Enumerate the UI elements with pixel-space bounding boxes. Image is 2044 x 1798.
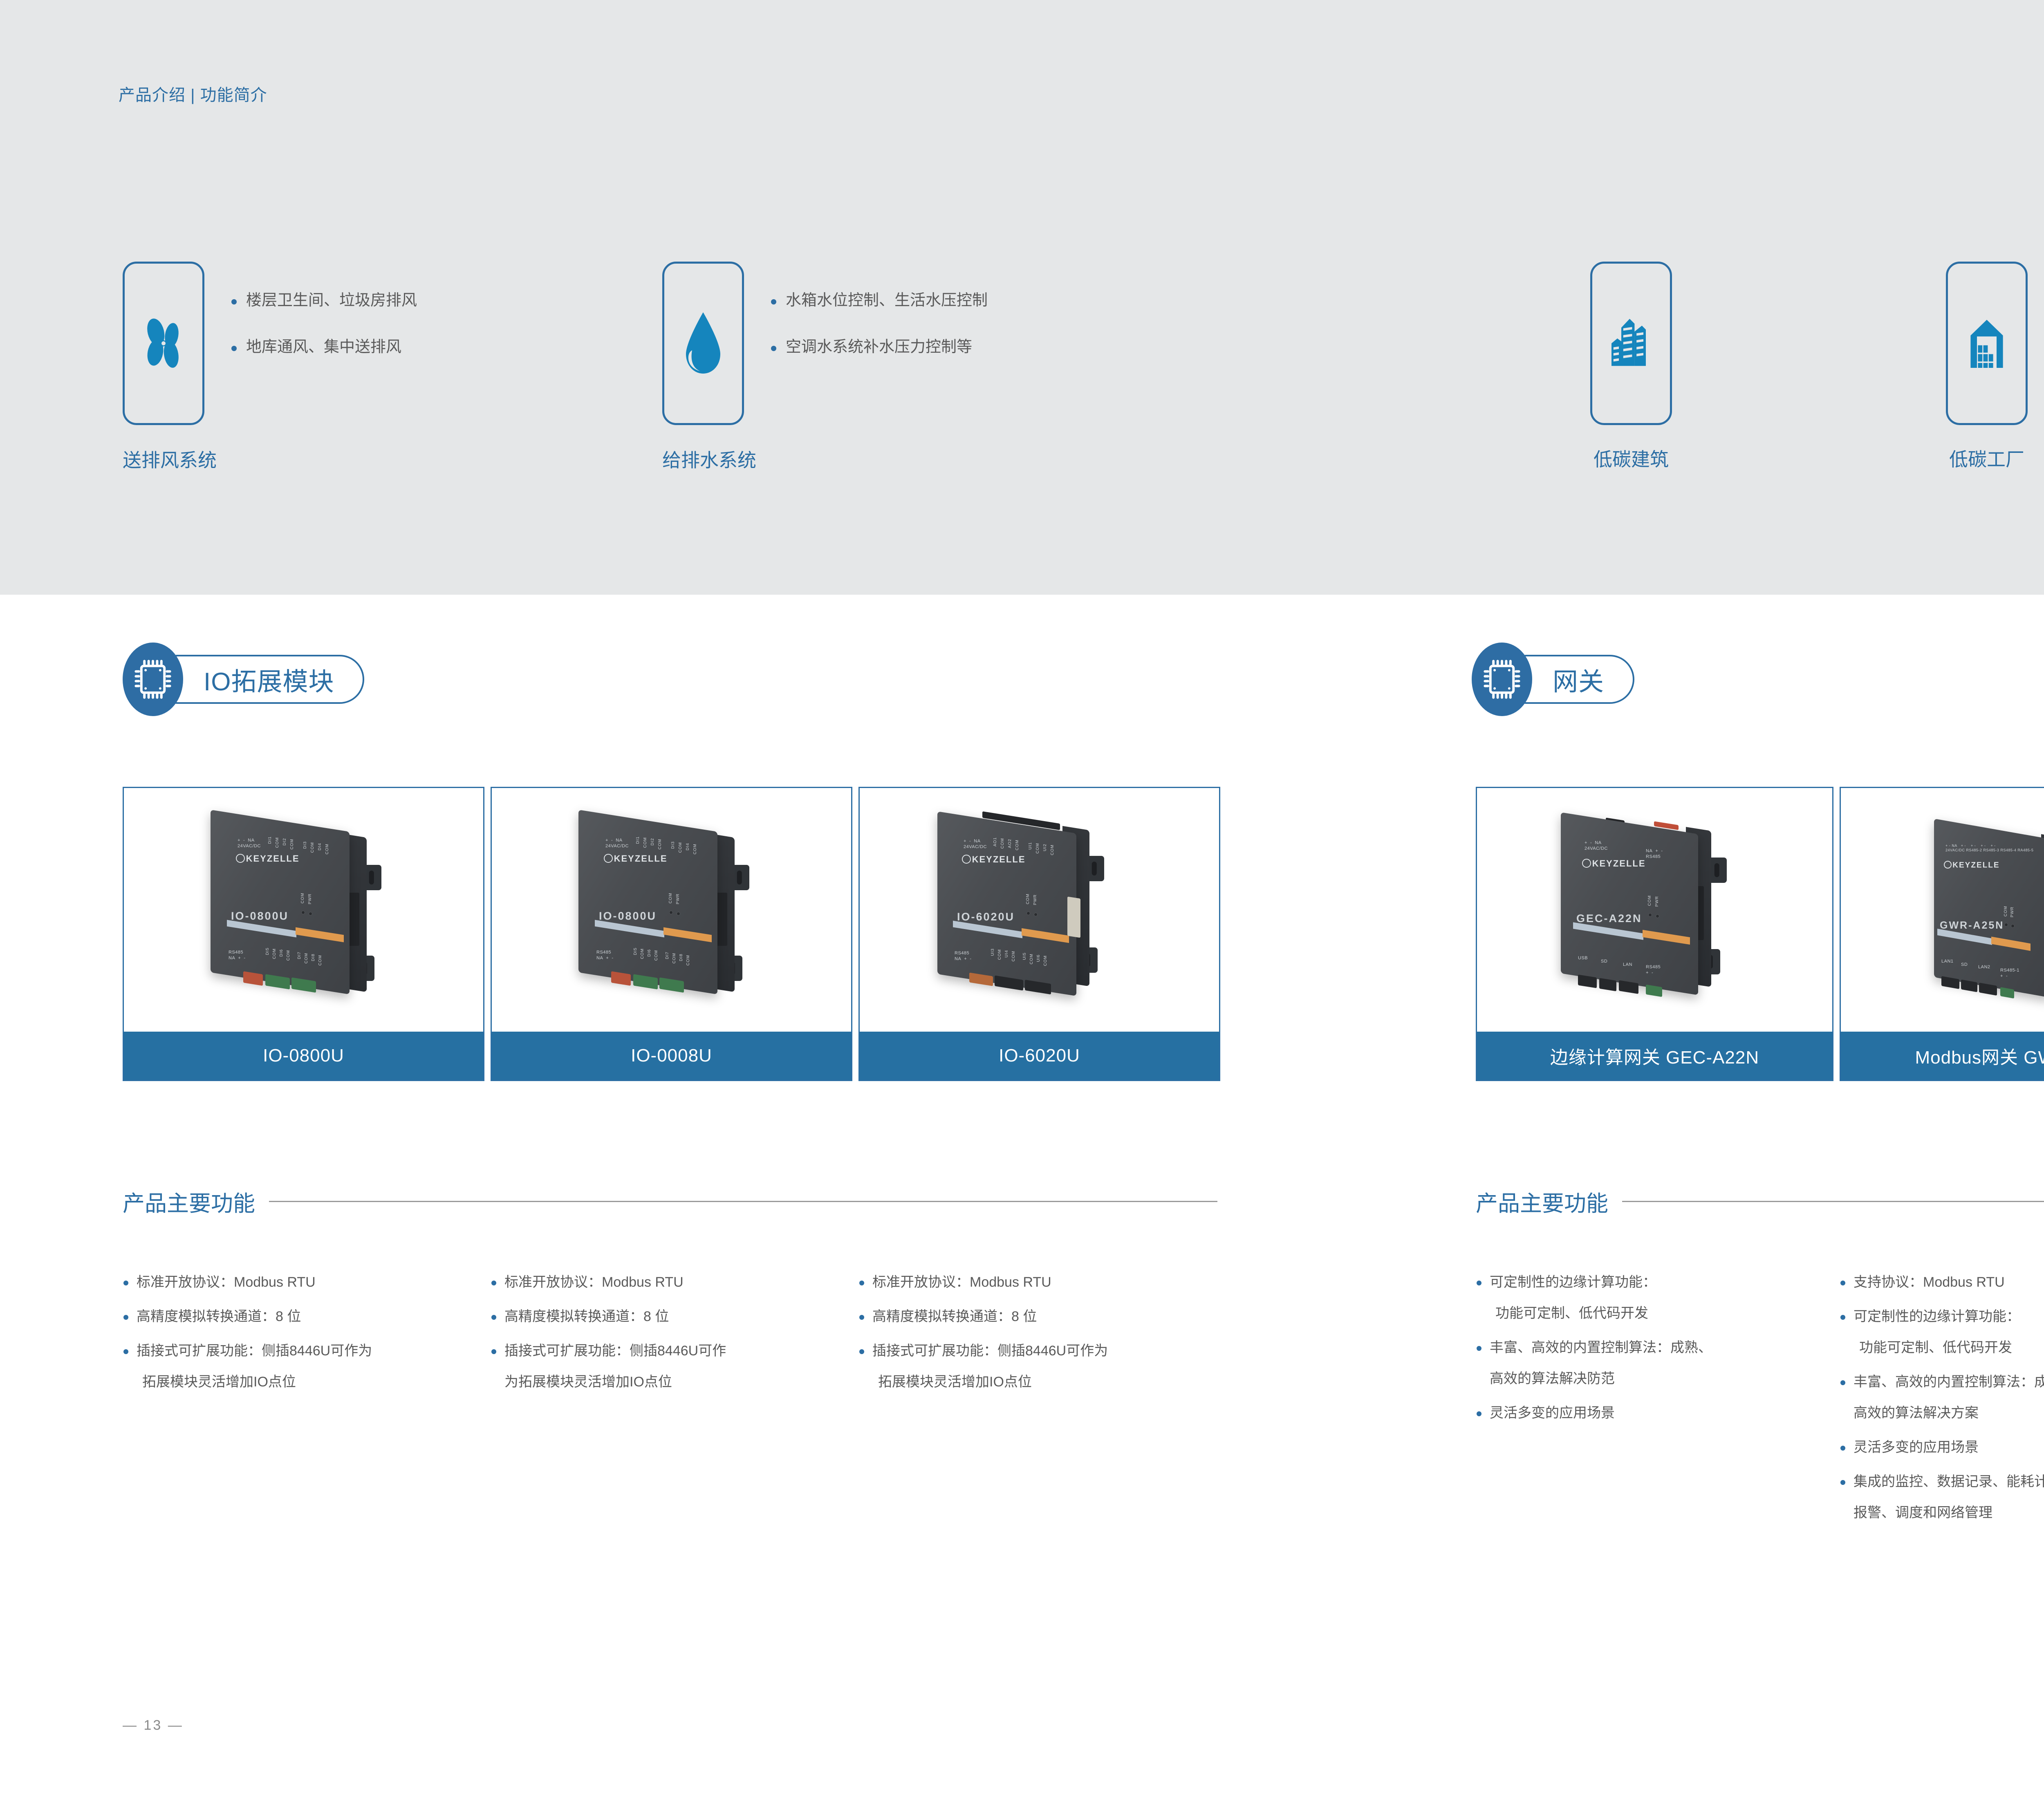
- model-label: IO-0800U: [231, 910, 289, 923]
- scenario-bullets-ventilation: 楼层卫生间、垃圾房排风 地库通风、集中送排风: [229, 262, 417, 355]
- feature-item: 高精度模拟转换通道：8 位: [858, 1310, 1218, 1323]
- scenario-bullets-water: 水箱水位控制、生活水压控制 空调水系统补水压力控制等: [769, 262, 988, 355]
- feature-item: 标准开放协议：Modbus RTU: [123, 1275, 482, 1289]
- product-card[interactable]: + - NA24VAC/DC DI1 COM DI2 COM DI3 COM D…: [123, 787, 484, 1081]
- product-photo: + - NA + - + - + - + -24VAC/DC RS485-2 R…: [1841, 788, 2044, 1032]
- feature-column: 标准开放协议：Modbus RTU 高精度模拟转换通道：8 位 插接式可扩展功能…: [123, 1275, 482, 1389]
- features-heading-text: 产品主要功能: [123, 1185, 255, 1218]
- section-badge-pill: IO拓展模块: [153, 655, 364, 704]
- feature-column: 标准开放协议：Modbus RTU 高精度模拟转换通道：8 位 插接式可扩展功能…: [491, 1275, 850, 1389]
- scenario-caption-water: 给排水系统: [662, 446, 797, 472]
- feature-item: 高精度模拟转换通道：8 位: [123, 1310, 482, 1323]
- feature-item: 标准开放协议：Modbus RTU: [491, 1275, 850, 1289]
- product-card[interactable]: + - NA24VAC/DC AO1 COM AO2 COM UI1 COM U…: [858, 787, 1220, 1081]
- feature-column: 标准开放协议：Modbus RTU 高精度模拟转换通道：8 位 插接式可扩展功能…: [858, 1275, 1218, 1389]
- brand-label: KEYZELLE: [1944, 861, 2000, 870]
- product-caption: IO-0008U: [492, 1032, 851, 1080]
- device-io-0800u: + - NA24VAC/DC DI1 COM DI2 COM DI3 COM D…: [193, 813, 414, 1021]
- product-caption: IO-0800U: [124, 1032, 483, 1080]
- feature-item: 可定制性的边缘计算功能：功能可定制、低代码开发: [1476, 1275, 1827, 1320]
- scenario-bullet: 楼层卫生间、垃圾房排风: [229, 293, 417, 308]
- heading-rule: [1622, 1201, 2044, 1202]
- scenario-caption-ventilation: 送排风系统: [123, 446, 258, 472]
- scenario-bullet: 地库通风、集中送排风: [229, 339, 417, 355]
- device-io-0008u: + - NA24VAC/DC DI1 COM DI2 COM DI3 COM D…: [561, 813, 782, 1021]
- feature-item: 插接式可扩展功能：侧插8446U可作为拓展模块灵活增加IO点位: [123, 1344, 482, 1389]
- product-photo: + - NA24VAC/DC DI1 COM DI2 COM DI3 COM D…: [492, 788, 851, 1032]
- product-photo: + - NA24VAC/DC DI1 COM DI2 COM DI3 COM D…: [124, 788, 483, 1032]
- scenario-bullet: 水箱水位控制、生活水压控制: [769, 293, 988, 308]
- product-card[interactable]: + - NA24VAC/DC NA + -RS485 KEYZELLE GEC-…: [1476, 787, 1833, 1081]
- lowcarbon-caption-factory: 低碳工厂: [1944, 445, 2030, 472]
- office-building-icon: [1607, 315, 1656, 372]
- scenario-group-ventilation: 楼层卫生间、垃圾房排风 地库通风、集中送排风 送排风系统: [123, 262, 417, 425]
- section-badge-label: 网关: [1553, 661, 1604, 698]
- lowcarbon-group-building: 低碳建筑: [1588, 262, 1674, 472]
- feature-item: 高精度模拟转换通道：8 位: [491, 1310, 850, 1323]
- device-gec-a22n: + - NA24VAC/DC NA + -RS485 KEYZELLE GEC-…: [1544, 808, 1767, 1021]
- power-terminal-label: + - NA24VAC/DC: [238, 838, 261, 849]
- brand-label: KEYZELLE: [962, 854, 1026, 865]
- feature-item: 丰富、高效的内置控制算法：成熟、高效的算法解决防范: [1476, 1341, 1827, 1386]
- fan-icon: [138, 313, 189, 374]
- lowcarbon-caption-building: 低碳建筑: [1588, 445, 1674, 472]
- lowcarbon-tile-factory: [1946, 262, 2028, 425]
- device-gwr-a25n: + - NA + - + - + - + -24VAC/DC RS485-2 R…: [1918, 813, 2044, 1021]
- feature-item: 插接式可扩展功能：侧插8446U可作为拓展模块灵活增加IO点位: [491, 1344, 850, 1389]
- feature-item: 插接式可扩展功能：侧插8446U可作为拓展模块灵活增加IO点位: [858, 1344, 1218, 1389]
- model-label: IO-0800U: [599, 910, 657, 923]
- model-label: GEC-A22N: [1576, 912, 1642, 925]
- device-io-6020u: + - NA24VAC/DC AO1 COM AO2 COM UI1 COM U…: [921, 808, 1150, 1021]
- features-heading-text: 产品主要功能: [1476, 1185, 1608, 1218]
- feature-item: 可定制性的边缘计算功能：功能可定制、低代码开发: [1840, 1310, 2044, 1355]
- feature-item: 集成的监控、数据记录、能耗计量、报警、调度和网络管理: [1840, 1475, 2044, 1520]
- running-head-left: 产品介绍 | 功能简介: [119, 82, 267, 105]
- product-card[interactable]: + - NA + - + - + - + -24VAC/DC RS485-2 R…: [1840, 787, 2044, 1081]
- page-number-left: — 13 —: [123, 1717, 184, 1733]
- feature-item: 灵活多变的应用场景: [1840, 1440, 2044, 1454]
- model-label: IO-6020U: [957, 911, 1015, 923]
- section-badge-gateway[interactable]: 网关: [1472, 643, 1634, 716]
- feature-item: 标准开放协议：Modbus RTU: [858, 1275, 1218, 1289]
- section-badge-label: IO拓展模块: [204, 661, 334, 698]
- section-badge-io-modules[interactable]: IO拓展模块: [123, 643, 364, 716]
- feature-item: 支持协议：Modbus RTU: [1840, 1275, 2044, 1289]
- product-card[interactable]: + - NA24VAC/DC DI1 COM DI2 COM DI3 COM D…: [491, 787, 852, 1081]
- chip-icon: [1472, 643, 1532, 716]
- product-caption: Modbus网关 GWR-A25N: [1841, 1032, 2044, 1080]
- water-drop-icon: [681, 310, 726, 377]
- features-heading-left: 产品主要功能: [123, 1185, 1222, 1218]
- feature-column: 可定制性的边缘计算功能：功能可定制、低代码开发 丰富、高效的内置控制算法：成熟、…: [1476, 1275, 1827, 1420]
- brand-label: KEYZELLE: [236, 853, 300, 864]
- product-caption: IO-6020U: [860, 1032, 1219, 1080]
- brand-label: KEYZELLE: [1582, 858, 1646, 869]
- features-heading-right: 产品主要功能: [1476, 1185, 2044, 1218]
- feature-item: 丰富、高效的内置控制算法：成熟、高效的算法解决方案: [1840, 1375, 2044, 1420]
- product-photo: + - NA24VAC/DC NA + -RS485 KEYZELLE GEC-…: [1477, 788, 1832, 1032]
- scenario-tile-ventilation: [123, 262, 204, 425]
- heading-rule: [269, 1201, 1217, 1202]
- lowcarbon-tile-building: [1590, 262, 1672, 425]
- product-caption: 边缘计算网关 GEC-A22N: [1477, 1032, 1832, 1080]
- lowcarbon-group-factory: 低碳工厂: [1944, 262, 2030, 472]
- chip-icon: [123, 643, 183, 716]
- factory-icon: [1962, 315, 2011, 372]
- feature-column: 支持协议：Modbus RTU 可定制性的边缘计算功能：功能可定制、低代码开发 …: [1840, 1275, 2044, 1520]
- scenario-group-water: 水箱水位控制、生活水压控制 空调水系统补水压力控制等 给排水系统: [662, 262, 988, 425]
- product-photo: + - NA24VAC/DC AO1 COM AO2 COM UI1 COM U…: [860, 788, 1219, 1032]
- feature-item: 灵活多变的应用场景: [1476, 1406, 1827, 1420]
- brand-label: KEYZELLE: [604, 853, 668, 864]
- model-label: GWR-A25N: [1940, 920, 2004, 931]
- scenario-bullet: 空调水系统补水压力控制等: [769, 339, 988, 355]
- scenario-tile-water: [662, 262, 744, 425]
